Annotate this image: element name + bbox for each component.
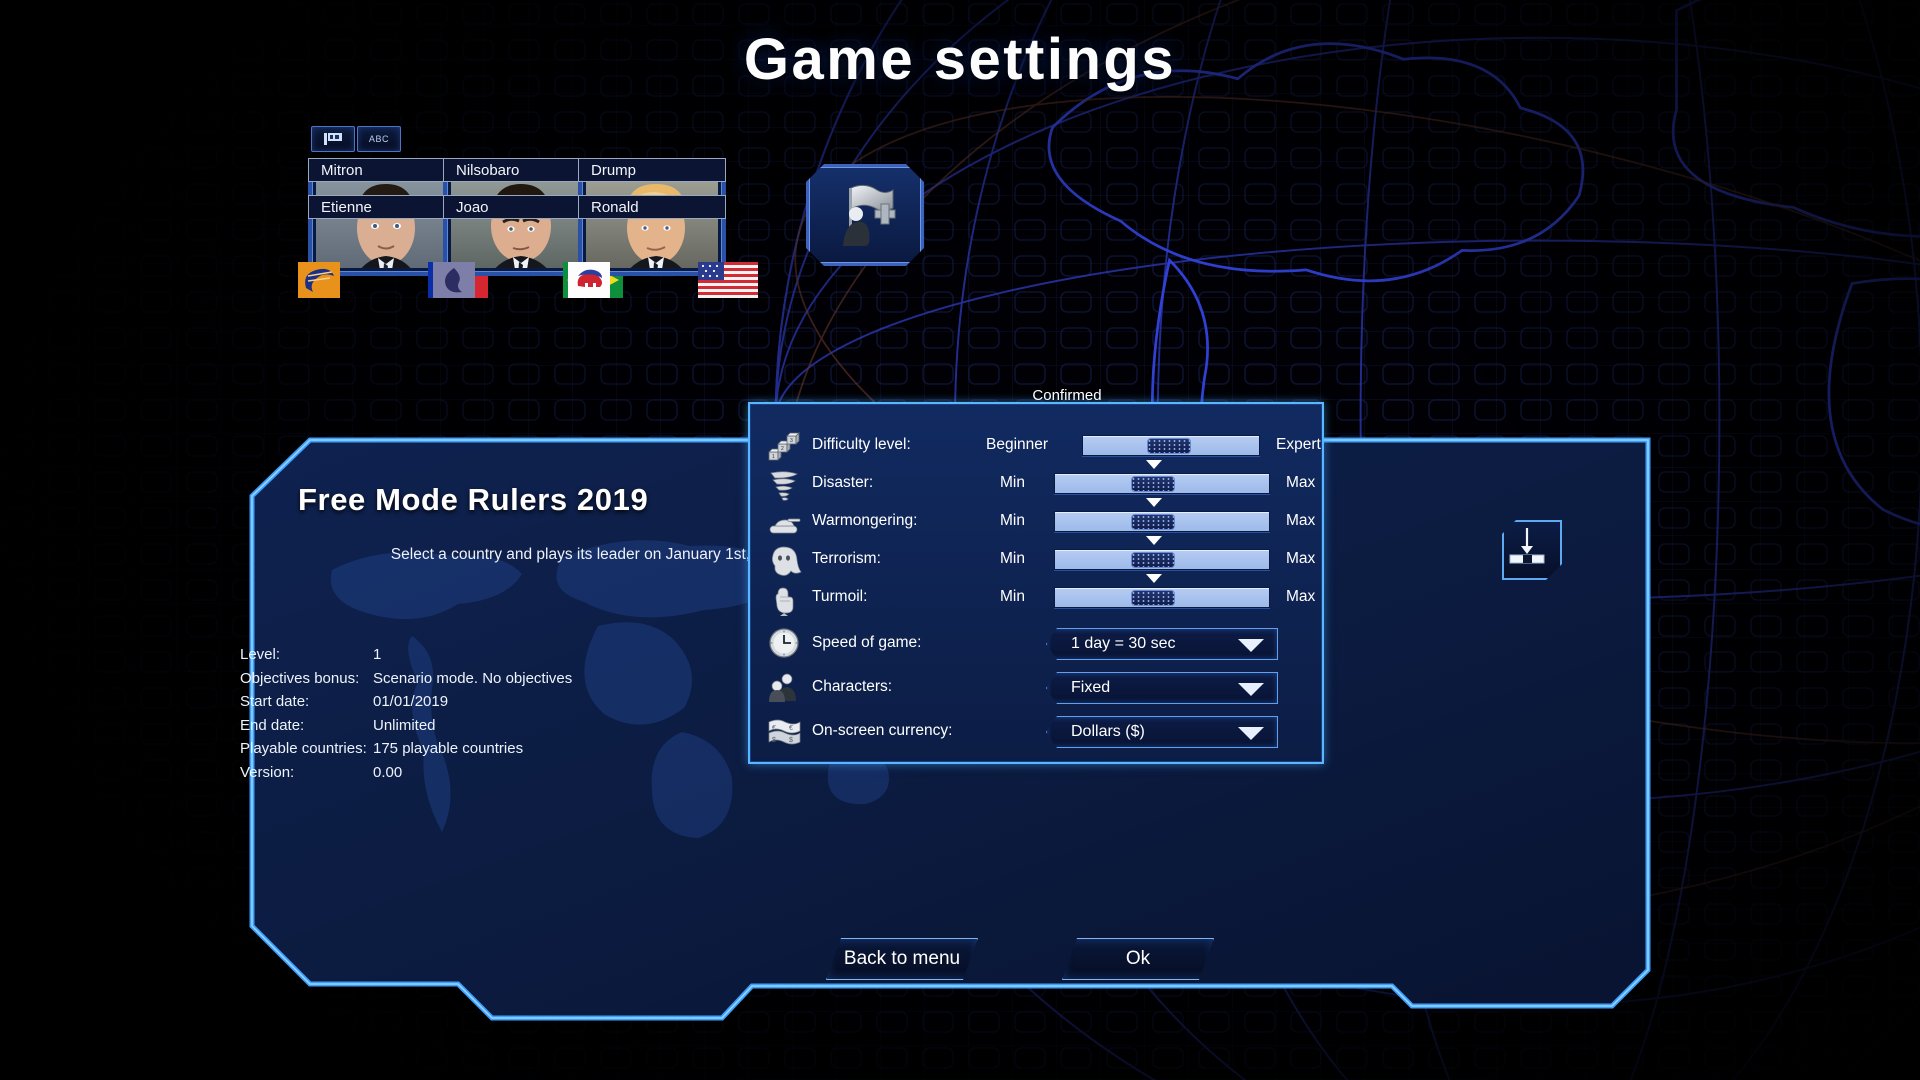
back-to-menu-button[interactable]: Back to menu <box>826 938 978 980</box>
setting-min-label: Min <box>1000 588 1025 606</box>
setting-min-label: Beginner <box>986 436 1048 454</box>
party-logo-icon <box>568 262 610 298</box>
add-player-flag-icon <box>829 182 901 248</box>
abc-toggle-button[interactable]: ABC <box>357 126 401 152</box>
add-player-button[interactable] <box>806 164 924 266</box>
terrorism-ghost-icon <box>766 544 802 578</box>
setting-label: Turmoil: <box>812 588 867 606</box>
slider-knob[interactable] <box>1131 476 1175 492</box>
party-logo-icon <box>298 262 340 298</box>
setting-max-label: Max <box>1286 550 1315 568</box>
info-key: Playable countries: <box>240 740 373 764</box>
info-row: Version: 0.00 <box>240 764 940 788</box>
abc-toggle-label: ABC <box>369 134 389 144</box>
settings-box: Confirmed 123 Difficulty level: Beginner… <box>748 402 1324 764</box>
info-key: Objectives bonus: <box>240 670 373 694</box>
setting-row-characters: Characters: Fixed <box>750 666 1326 710</box>
setting-row-speed: Speed of game: 1 day = 30 sec <box>750 622 1326 666</box>
player-firstname-field[interactable]: Etienne <box>308 195 456 219</box>
player-firstname-field[interactable]: Joao <box>443 195 591 219</box>
scenario-title: Free Mode Rulers 2019 <box>298 482 648 518</box>
info-value: Unlimited <box>373 717 436 741</box>
info-value: 1 <box>373 646 381 670</box>
tornado-icon <box>766 468 802 502</box>
setting-row-warmongering: Warmongering: Min Max <box>750 504 1326 542</box>
flag-toggle-button[interactable] <box>311 126 355 152</box>
turmoil-slider[interactable] <box>1054 587 1270 608</box>
disaster-slider[interactable] <box>1054 473 1270 494</box>
info-value: Scenario mode. No objectives <box>373 670 572 694</box>
page-title: Game settings <box>0 26 1920 93</box>
ok-button[interactable]: Ok <box>1062 938 1214 980</box>
difficulty-steps-icon: 123 <box>766 430 802 464</box>
setting-row-difficulty: 123 Difficulty level: Beginner Expert <box>750 428 1326 466</box>
player-surname-field[interactable]: Nilsobaro <box>443 158 591 182</box>
player-surname-field[interactable]: Mitron <box>308 158 456 182</box>
terrorism-slider[interactable] <box>1054 549 1270 570</box>
banknotes-icon: €€$$ <box>766 714 802 748</box>
setting-row-terrorism: Terrorism: Min Max <box>750 542 1326 580</box>
setting-label: Speed of game: <box>812 634 921 652</box>
flag-icon <box>323 132 343 146</box>
tank-icon <box>766 506 802 540</box>
characters-icon <box>766 670 802 704</box>
svg-text:€: € <box>789 725 793 732</box>
setting-row-turmoil: Turmoil: Min Max <box>750 580 1326 618</box>
scenario-panel: Free Mode Rulers 2019 Select a country a… <box>252 440 1648 1020</box>
chevron-down-icon <box>1238 683 1264 696</box>
speed-of-game-value: 1 day = 30 sec <box>1071 635 1176 653</box>
fist-icon <box>766 582 802 616</box>
setting-max-label: Expert <box>1276 436 1321 454</box>
country-flag-icon <box>698 262 758 298</box>
svg-text:$: $ <box>789 737 793 744</box>
party-logo-icon <box>433 262 475 298</box>
setting-row-disaster: Disaster: Min Max <box>750 466 1326 504</box>
svg-text:1: 1 <box>772 454 775 460</box>
ok-label: Ok <box>1126 948 1150 970</box>
setting-label: Difficulty level: <box>812 436 911 454</box>
back-to-menu-label: Back to menu <box>844 948 960 970</box>
difficulty-slider[interactable] <box>1082 435 1260 456</box>
svg-text:$: $ <box>772 737 776 744</box>
svg-text:2: 2 <box>781 446 784 452</box>
svg-text:3: 3 <box>790 438 793 444</box>
setting-label: Terrorism: <box>812 550 881 568</box>
info-key: Level: <box>240 646 373 670</box>
currency-value: Dollars ($) <box>1071 723 1145 741</box>
speed-of-game-dropdown[interactable]: 1 day = 30 sec <box>1046 628 1278 660</box>
player-surname-value: Drump <box>591 162 636 179</box>
setting-label: Disaster: <box>812 474 873 492</box>
setting-min-label: Min <box>1000 550 1025 568</box>
setting-min-label: Min <box>1000 474 1025 492</box>
setting-row-currency: €€$$ On-screen currency: Dollars ($) <box>750 710 1326 754</box>
info-key: Start date: <box>240 693 373 717</box>
player-firstname-value: Ronald <box>591 199 639 216</box>
setting-label: Warmongering: <box>812 512 917 530</box>
characters-dropdown[interactable]: Fixed <box>1046 672 1278 704</box>
setting-min-label: Min <box>1000 512 1025 530</box>
chevron-down-icon <box>1238 639 1264 652</box>
player-firstname-value: Joao <box>456 199 489 216</box>
slider-knob[interactable] <box>1131 590 1175 606</box>
slider-knob[interactable] <box>1131 552 1175 568</box>
characters-value: Fixed <box>1071 679 1110 697</box>
info-value: 01/01/2019 <box>373 693 448 717</box>
chevron-down-icon <box>1238 727 1264 740</box>
clock-icon <box>766 626 802 660</box>
player-firstname-field[interactable]: Ronald <box>578 195 726 219</box>
info-value: 0.00 <box>373 764 402 788</box>
player-firstname-value: Etienne <box>321 199 372 216</box>
setting-label: Characters: <box>812 678 892 696</box>
slider-knob[interactable] <box>1147 438 1191 454</box>
player-surname-value: Mitron <box>321 162 363 179</box>
reset-sliders-icon <box>1504 522 1550 568</box>
player-surname-field[interactable]: Drump <box>578 158 726 182</box>
info-key: End date: <box>240 717 373 741</box>
setting-max-label: Max <box>1286 512 1315 530</box>
setting-max-label: Max <box>1286 474 1315 492</box>
reset-sliders-button[interactable] <box>1502 520 1562 580</box>
info-value: 175 playable countries <box>373 740 523 764</box>
setting-max-label: Max <box>1286 588 1315 606</box>
slider-knob[interactable] <box>1131 514 1175 530</box>
warmongering-slider[interactable] <box>1054 511 1270 532</box>
player-surname-value: Nilsobaro <box>456 162 519 179</box>
svg-text:€: € <box>772 725 776 732</box>
info-key: Version: <box>240 764 373 788</box>
currency-dropdown[interactable]: Dollars ($) <box>1046 716 1278 748</box>
setting-label: On-screen currency: <box>812 722 952 740</box>
confirmed-label: Confirmed <box>982 387 1152 404</box>
